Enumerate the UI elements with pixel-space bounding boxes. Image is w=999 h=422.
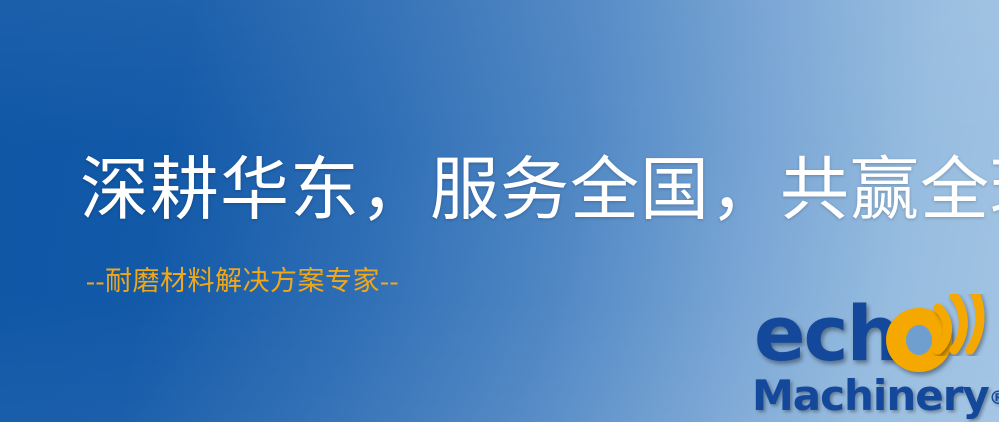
logo-wordmark-text: ech <box>754 292 899 376</box>
logo-wordmark: ech <box>752 296 999 374</box>
subtitle-text: --耐磨材料解决方案专家-- <box>86 264 399 298</box>
logo-company-text: Machinery <box>752 371 989 420</box>
promo-banner: 深耕华东，服务全国，共赢全球 --耐磨材料解决方案专家-- ech <box>0 0 999 422</box>
logo-company-name: Machinery® <box>752 372 999 422</box>
signal-waves-icon <box>928 294 999 356</box>
headline-text: 深耕华东，服务全国，共赢全球 <box>80 150 999 230</box>
registered-trademark-icon: ® <box>989 387 999 409</box>
echo-machinery-logo: ech Machinery® <box>752 296 999 422</box>
